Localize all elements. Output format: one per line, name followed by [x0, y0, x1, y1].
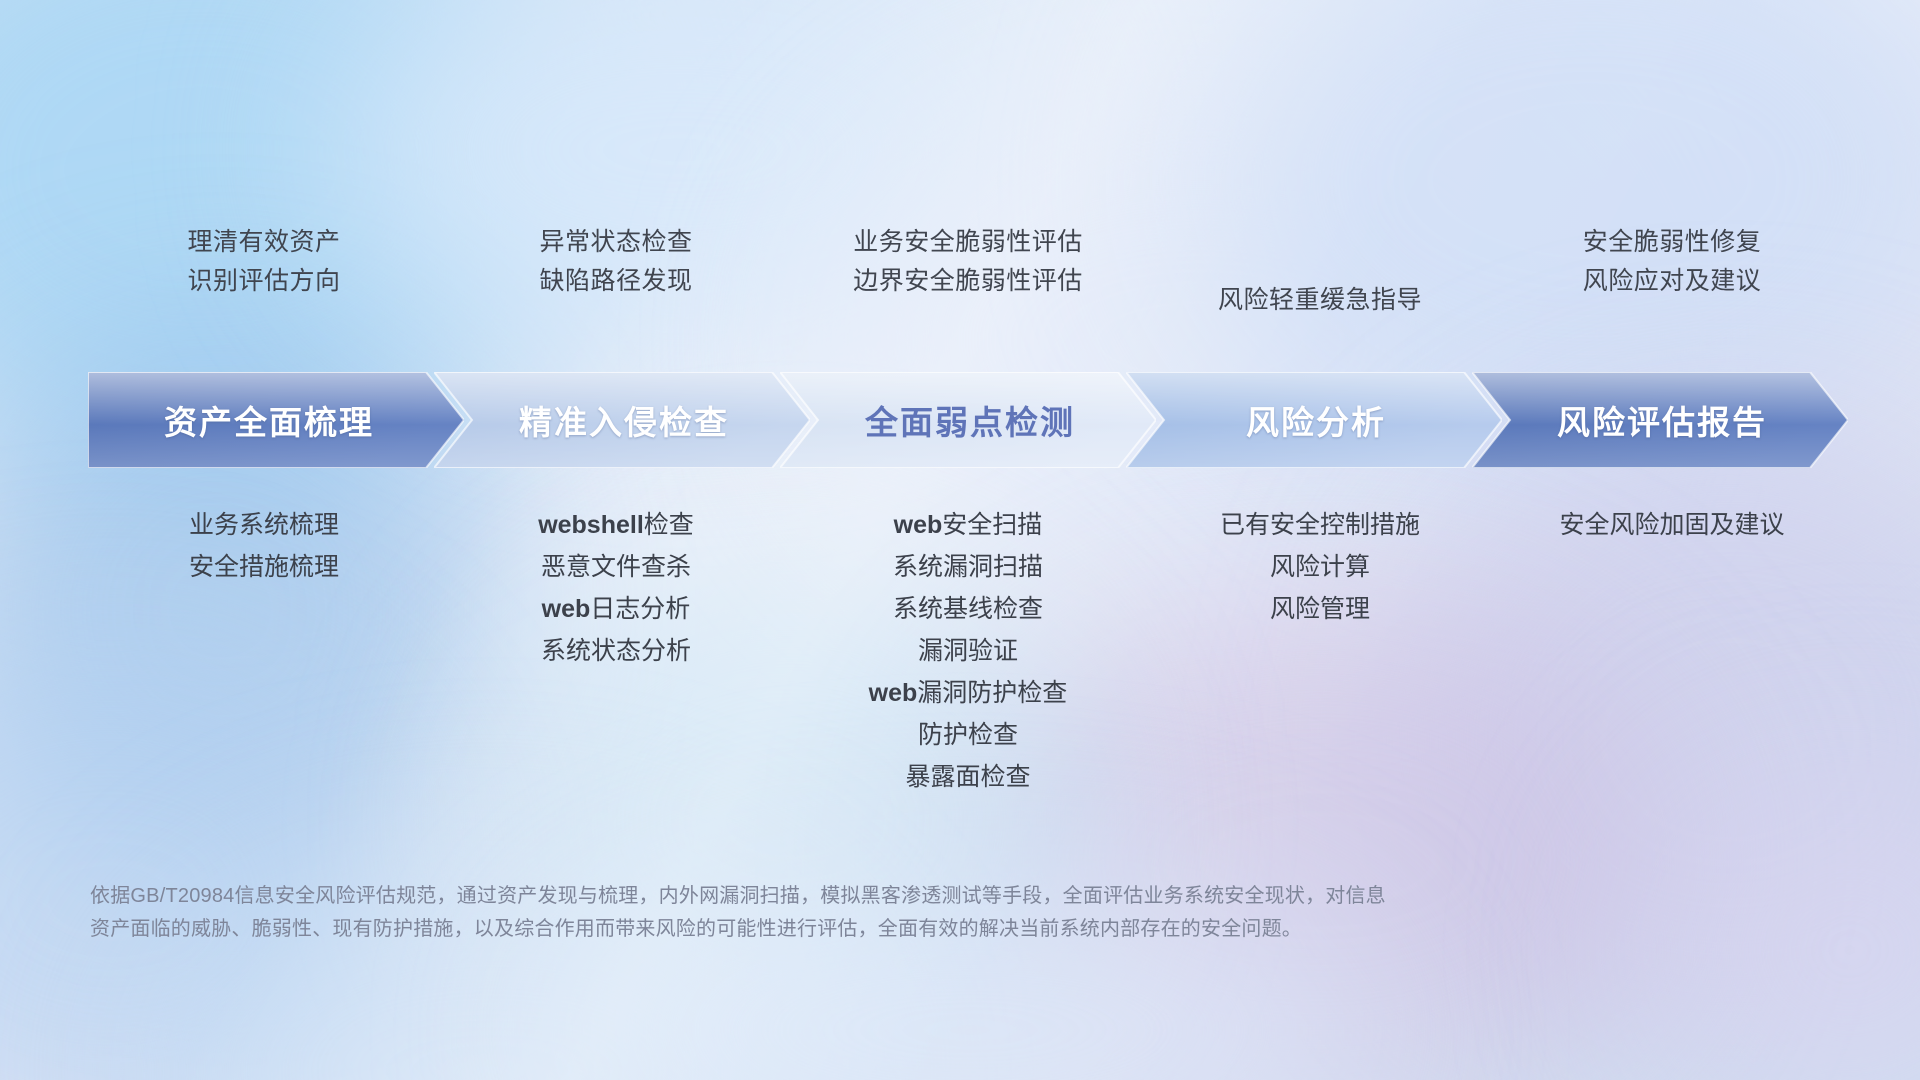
list-item: 漏洞验证: [918, 639, 1018, 664]
top-label: 缺陷路径发现: [539, 269, 692, 294]
bottom-list-group-4: 已有安全控制措施风险计算风险管理: [1144, 505, 1496, 622]
list-item: 暴露面检查: [905, 765, 1030, 790]
top-label: 安全脆弱性修复: [1583, 230, 1762, 255]
list-item: 系统基线检查: [893, 597, 1043, 622]
top-label-group-5: 安全脆弱性修复风险应对及建议: [1496, 230, 1848, 340]
top-label: 理清有效资产: [187, 230, 340, 255]
process-diagram: 理清有效资产识别评估方向异常状态检查缺陷路径发现业务安全脆弱性评估边界安全脆弱性…: [0, 0, 1920, 1080]
list-item: 业务系统梳理: [189, 513, 339, 538]
list-item-text: 安全扫描: [942, 511, 1042, 539]
list-item: web日志分析: [542, 597, 691, 622]
chevron-stage-label: 精准入侵检查: [519, 396, 729, 444]
chevron-stage-2[interactable]: 精准入侵检查: [434, 372, 810, 468]
chevron-stage-3[interactable]: 全面弱点检测: [780, 372, 1156, 468]
top-label-group-4: 风险轻重缓急指导: [1144, 230, 1496, 340]
top-label: 风险轻重缓急指导: [1218, 288, 1422, 313]
list-item: 安全风险加固及建议: [1559, 513, 1784, 538]
list-item: 恶意文件查杀: [541, 555, 691, 580]
bottom-list-group-2: webshell检查恶意文件查杀web日志分析系统状态分析: [440, 505, 792, 664]
list-item: 系统漏洞扫描: [893, 555, 1043, 580]
list-item: 系统状态分析: [541, 639, 691, 664]
list-item-prefix: web: [542, 595, 591, 623]
bottom-list-row: 业务系统梳理安全措施梳理webshell检查恶意文件查杀web日志分析系统状态分…: [88, 505, 1848, 790]
list-item-text: 漏洞防护检查: [917, 679, 1067, 707]
list-item: 风险计算: [1270, 555, 1370, 580]
chevron-stage-label: 全面弱点检测: [865, 396, 1075, 444]
chevron-stage-4[interactable]: 风险分析: [1126, 372, 1502, 468]
top-label-group-1: 理清有效资产识别评估方向: [88, 230, 440, 340]
top-label: 识别评估方向: [187, 269, 340, 294]
footer-description: 依据GB/T20984信息安全风险评估规范，通过资产发现与梳理，内外网漏洞扫描，…: [90, 880, 1620, 946]
list-item-prefix: web: [894, 511, 943, 539]
list-item-text: 检查: [644, 511, 694, 539]
footer-line-1: 依据GB/T20984信息安全风险评估规范，通过资产发现与梳理，内外网漏洞扫描，…: [90, 880, 1620, 913]
list-item: 已有安全控制措施: [1220, 513, 1420, 538]
list-item-text: 日志分析: [590, 595, 690, 623]
list-item: web安全扫描: [894, 513, 1043, 538]
bottom-list-group-5: 安全风险加固及建议: [1496, 505, 1848, 538]
list-item: web漏洞防护检查: [869, 681, 1068, 706]
top-label-group-3: 业务安全脆弱性评估边界安全脆弱性评估: [792, 230, 1144, 340]
list-item: 风险管理: [1270, 597, 1370, 622]
chevron-stage-5[interactable]: 风险评估报告: [1472, 372, 1848, 468]
process-chevron-band: 资产全面梳理精准入侵检查全面弱点检测风险分析风险评估报告: [88, 372, 1848, 468]
list-item-prefix: webshell: [538, 511, 644, 539]
bottom-list-group-3: web安全扫描系统漏洞扫描系统基线检查漏洞验证web漏洞防护检查防护检查暴露面检…: [792, 505, 1144, 790]
bottom-list-group-1: 业务系统梳理安全措施梳理: [88, 505, 440, 580]
list-item-prefix: web: [869, 679, 918, 707]
top-label: 异常状态检查: [539, 230, 692, 255]
footer-line-2: 资产面临的威胁、脆弱性、现有防护措施，以及综合作用而带来风险的可能性进行评估，全…: [90, 913, 1620, 946]
top-label-group-2: 异常状态检查缺陷路径发现: [440, 230, 792, 340]
chevron-stage-label: 资产全面梳理: [164, 396, 374, 444]
top-label-row: 理清有效资产识别评估方向异常状态检查缺陷路径发现业务安全脆弱性评估边界安全脆弱性…: [88, 230, 1848, 340]
top-label: 业务安全脆弱性评估: [853, 230, 1083, 255]
chevron-stage-1[interactable]: 资产全面梳理: [88, 372, 464, 468]
chevron-stage-label: 风险分析: [1246, 396, 1386, 444]
list-item: webshell检查: [538, 513, 694, 538]
top-label: 边界安全脆弱性评估: [853, 269, 1083, 294]
list-item: 安全措施梳理: [189, 555, 339, 580]
list-item: 防护检查: [918, 723, 1018, 748]
top-label: 风险应对及建议: [1583, 269, 1762, 294]
chevron-stage-label: 风险评估报告: [1557, 396, 1767, 444]
